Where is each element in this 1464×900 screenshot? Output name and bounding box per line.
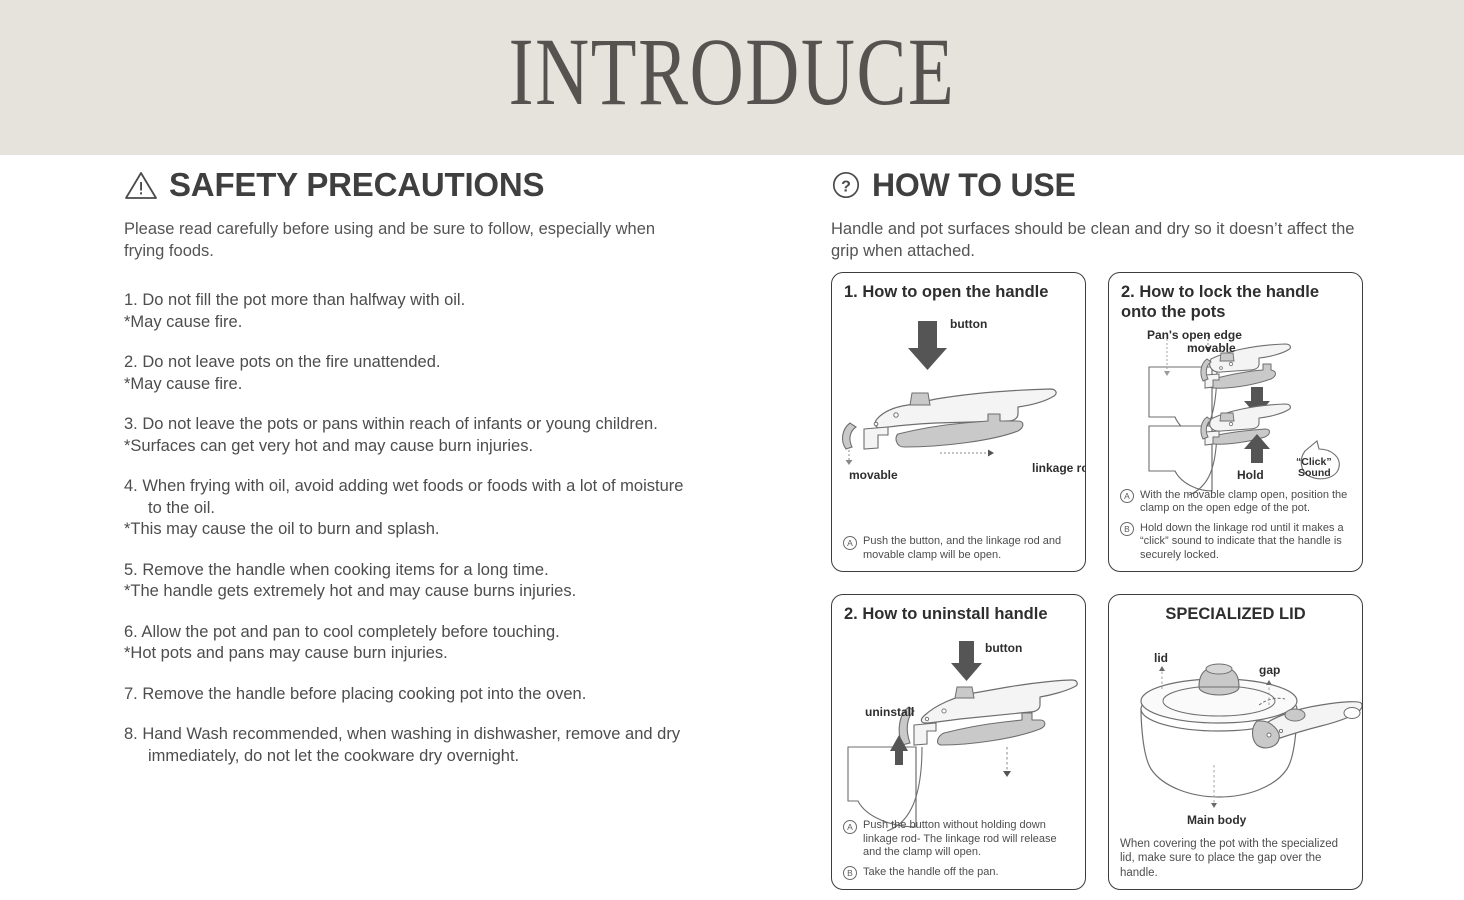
introduce-page: INTRODUCE SAFETY PRECAUTIONS Please read…	[0, 0, 1464, 900]
panel-notes: A Push the button, and the linkage rod a…	[843, 535, 1076, 562]
note-mark: A	[1120, 489, 1134, 503]
note-text: Push the button without holding down lin…	[863, 819, 1076, 860]
howto-panel-grid: 1. How to open the handle	[831, 272, 1363, 890]
safety-item-note: *The handle gets extremely hot and may c…	[124, 581, 684, 603]
specialized-lid-illustration	[1109, 643, 1362, 818]
safety-lede: Please read carefully before using and b…	[124, 218, 684, 262]
header-band: INTRODUCE	[0, 0, 1464, 155]
panel-title: 1. How to open the handle	[844, 282, 1077, 302]
note-text: Push the button, and the linkage rod and…	[863, 535, 1076, 562]
label-movable: movable	[1187, 341, 1236, 355]
panel-open-handle[interactable]: 1. How to open the handle	[831, 272, 1086, 572]
list-item: 2. Do not leave pots on the fire unatten…	[124, 352, 684, 395]
open-handle-illustration	[832, 311, 1085, 471]
note-item: A With the movable clamp open, position …	[1120, 489, 1353, 516]
list-item: 7. Remove the handle before placing cook…	[124, 684, 684, 706]
note-mark: A	[843, 820, 857, 834]
panel-title: 2. How to lock the handle onto the pots	[1121, 282, 1354, 322]
uninstall-handle-illustration	[832, 635, 1085, 835]
safety-heading: SAFETY PRECAUTIONS	[124, 168, 684, 202]
note-item: A Push the button, and the linkage rod a…	[843, 535, 1076, 562]
note-item: B Hold down the linkage rod until it mak…	[1120, 522, 1353, 563]
list-item: 4. When frying with oil, avoid adding we…	[124, 476, 684, 541]
safety-heading-label: SAFETY PRECAUTIONS	[169, 168, 544, 202]
safety-item-note: *Hot pots and pans may cause burn injuri…	[124, 643, 684, 665]
safety-item-note: *Surfaces can get very hot and may cause…	[124, 436, 684, 458]
note-item: B Take the handle off the pan.	[843, 866, 1076, 881]
label-hold: Hold	[1237, 468, 1264, 482]
panel-specialized-lid[interactable]: SPECIALIZED LID	[1108, 594, 1363, 890]
howto-lede: Handle and pot surfaces should be clean …	[831, 218, 1361, 262]
safety-item-main: 2. Do not leave pots on the fire unatten…	[124, 352, 684, 374]
list-item: 1. Do not fill the pot more than halfway…	[124, 290, 684, 333]
panel-title: SPECIALIZED LID	[1109, 604, 1362, 624]
panel-uninstall-handle[interactable]: 2. How to uninstall handle	[831, 594, 1086, 890]
label-pans-open-edge: Pan's open edge	[1147, 328, 1242, 342]
label-uninstall: uninstall	[865, 705, 914, 719]
label-click-sound-line2: Sound	[1298, 467, 1331, 479]
svg-text:?: ?	[841, 179, 851, 196]
howto-heading: ? HOW TO USE	[831, 168, 1361, 202]
note-text: When covering the pot with the specializ…	[1120, 837, 1353, 881]
safety-item-note: *May cause fire.	[124, 312, 684, 334]
safety-item-main: 4. When frying with oil, avoid adding we…	[124, 476, 684, 519]
panel-lock-handle[interactable]: 2. How to lock the handle onto the pots	[1108, 272, 1363, 572]
list-item: 8. Hand Wash recommended, when washing i…	[124, 724, 684, 767]
safety-item-main: 5. Remove the handle when cooking items …	[124, 560, 684, 582]
safety-precautions-section: SAFETY PRECAUTIONS Please read carefully…	[124, 168, 684, 786]
note-mark: B	[843, 866, 857, 880]
safety-item-main: 3. Do not leave the pots or pans within …	[124, 414, 684, 436]
list-item: 6. Allow the pot and pan to cool complet…	[124, 622, 684, 665]
label-button: button	[985, 641, 1022, 655]
howto-heading-label: HOW TO USE	[872, 168, 1076, 202]
note-text: With the movable clamp open, position th…	[1140, 489, 1353, 516]
warning-triangle-icon	[124, 170, 158, 201]
safety-item-main: 8. Hand Wash recommended, when washing i…	[124, 724, 684, 767]
label-movable: movable	[849, 468, 898, 482]
panel-notes: A Push the button without holding down l…	[843, 819, 1076, 880]
label-gap: gap	[1259, 663, 1280, 677]
question-circle-icon: ?	[831, 170, 861, 200]
note-item: A Push the button without holding down l…	[843, 819, 1076, 860]
note-mark: A	[843, 536, 857, 550]
safety-item-main: 6. Allow the pot and pan to cool complet…	[124, 622, 684, 644]
how-to-use-section: ? HOW TO USE Handle and pot surfaces sho…	[831, 168, 1361, 280]
panel-notes: A With the movable clamp open, position …	[1120, 489, 1353, 563]
safety-item-note: *May cause fire.	[124, 374, 684, 396]
panel-notes: When covering the pot with the specializ…	[1120, 837, 1353, 881]
list-item: 3. Do not leave the pots or pans within …	[124, 414, 684, 457]
label-linkage-rod: linkage rod	[1032, 461, 1086, 475]
label-button: button	[950, 317, 987, 331]
note-mark: B	[1120, 522, 1134, 536]
label-lid: lid	[1154, 651, 1168, 665]
panel-title: 2. How to uninstall handle	[844, 604, 1077, 624]
page-title: INTRODUCE	[161, 16, 1303, 128]
note-text: Hold down the linkage rod until it makes…	[1140, 522, 1353, 563]
safety-list: 1. Do not fill the pot more than halfway…	[124, 290, 684, 767]
safety-item-main: 1. Do not fill the pot more than halfway…	[124, 290, 684, 312]
label-main-body: Main body	[1187, 813, 1246, 827]
list-item: 5. Remove the handle when cooking items …	[124, 560, 684, 603]
note-text: Take the handle off the pan.	[863, 866, 1076, 881]
safety-item-note: *This may cause the oil to burn and spla…	[124, 519, 684, 541]
safety-item-main: 7. Remove the handle before placing cook…	[124, 684, 684, 706]
